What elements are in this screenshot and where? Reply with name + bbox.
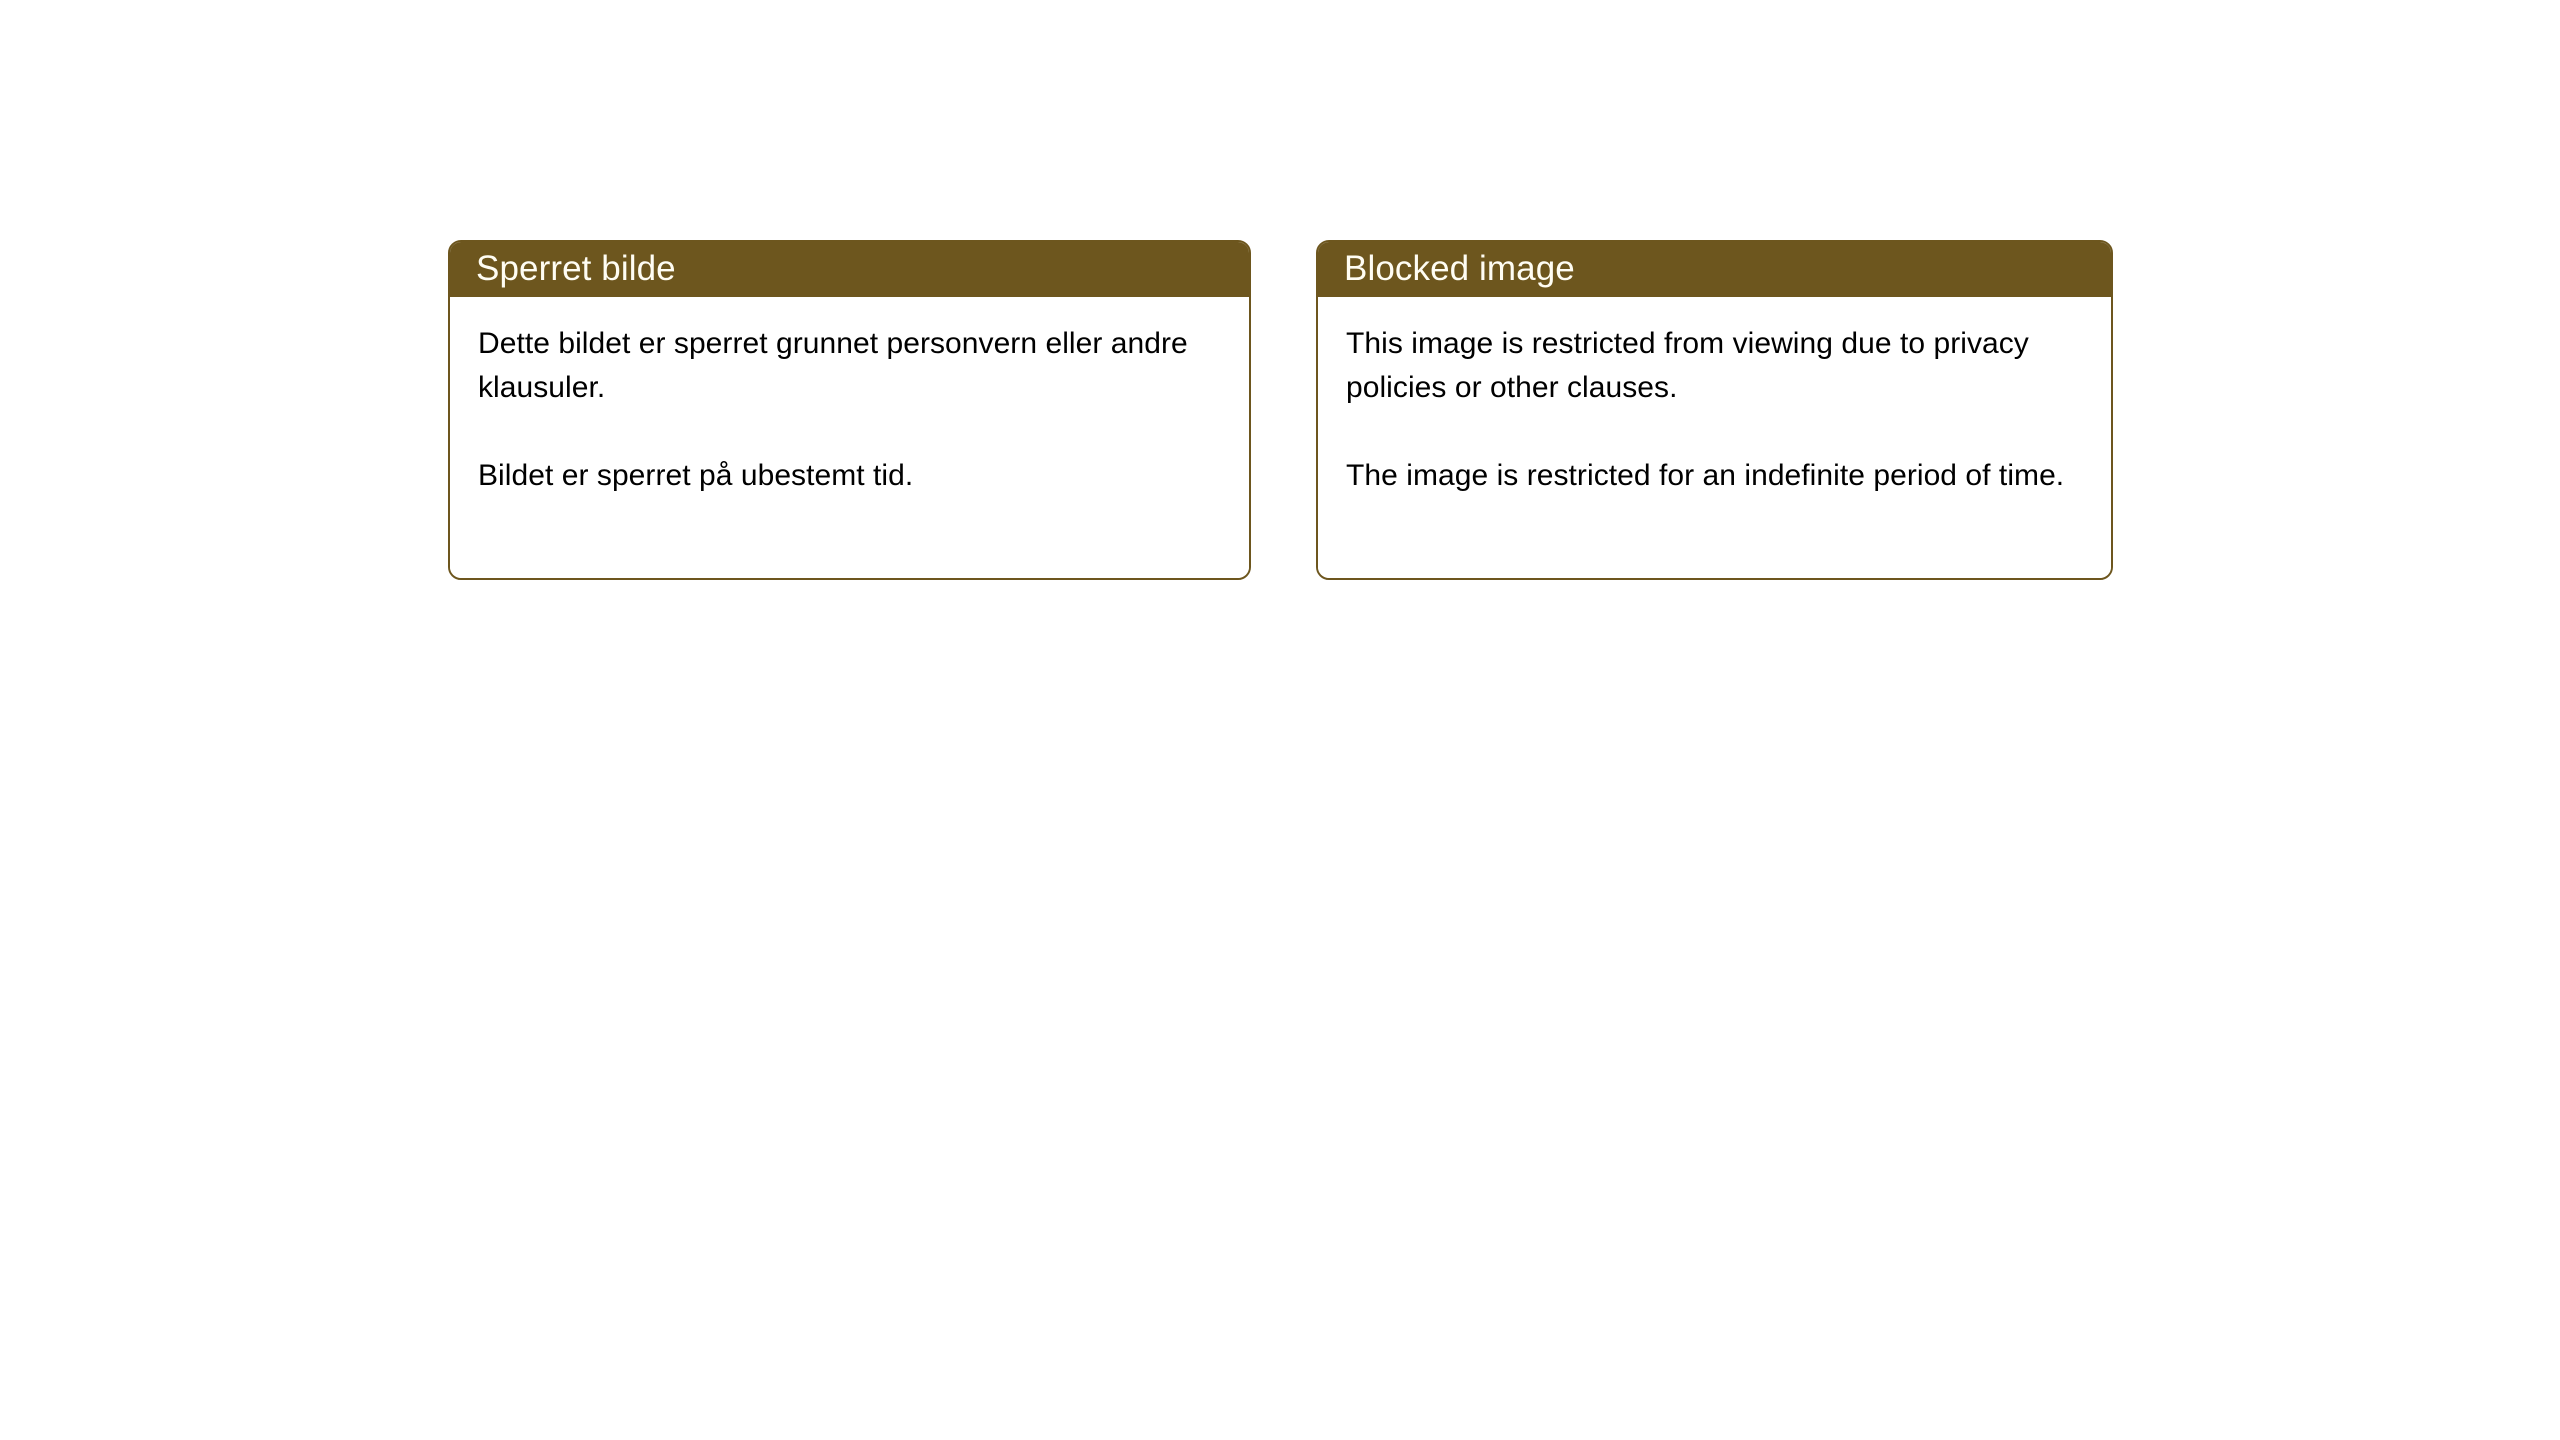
page-root: Sperret bilde Dette bildet er sperret gr… <box>0 0 2560 1440</box>
notice-card-group: Sperret bilde Dette bildet er sperret gr… <box>448 240 2113 580</box>
blocked-image-notice-card-norwegian: Sperret bilde Dette bildet er sperret gr… <box>448 240 1251 580</box>
card-title-english: Blocked image <box>1344 249 1575 289</box>
card-title-norwegian: Sperret bilde <box>476 249 676 289</box>
card-header-english: Blocked image <box>1317 241 2112 297</box>
card-paragraph-duration-norwegian: Bildet er sperret på ubestemt tid. <box>478 454 1225 498</box>
card-header-norwegian: Sperret bilde <box>449 241 1250 297</box>
card-paragraph-reason-norwegian: Dette bildet er sperret grunnet personve… <box>478 322 1225 410</box>
blocked-image-notice-card-english: Blocked image This image is restricted f… <box>1316 240 2113 580</box>
card-paragraph-duration-english: The image is restricted for an indefinit… <box>1346 454 2087 498</box>
card-paragraph-reason-english: This image is restricted from viewing du… <box>1346 322 2087 410</box>
card-body-english: This image is restricted from viewing du… <box>1318 297 2111 578</box>
card-body-norwegian: Dette bildet er sperret grunnet personve… <box>450 297 1249 578</box>
